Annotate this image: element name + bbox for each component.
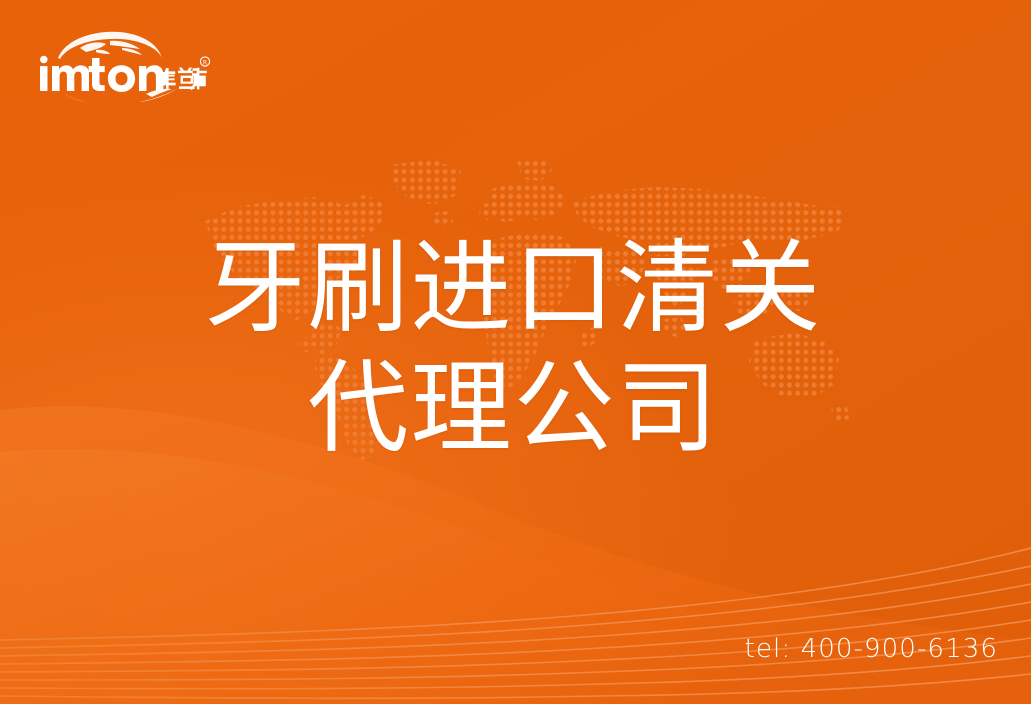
page-title: 牙刷进口清关 代理公司 [0, 228, 1031, 468]
promo-banner: R 牙刷进口清关 代理公司 tel: 400-900-6136 [0, 0, 1031, 704]
title-line-1: 牙刷进口清关 [0, 228, 1031, 348]
svg-text:R: R [203, 59, 207, 66]
imton-logo[interactable]: R [36, 28, 212, 102]
contact-phone[interactable]: tel: 400-900-6136 [745, 634, 998, 664]
title-line-2: 代理公司 [0, 348, 1031, 468]
